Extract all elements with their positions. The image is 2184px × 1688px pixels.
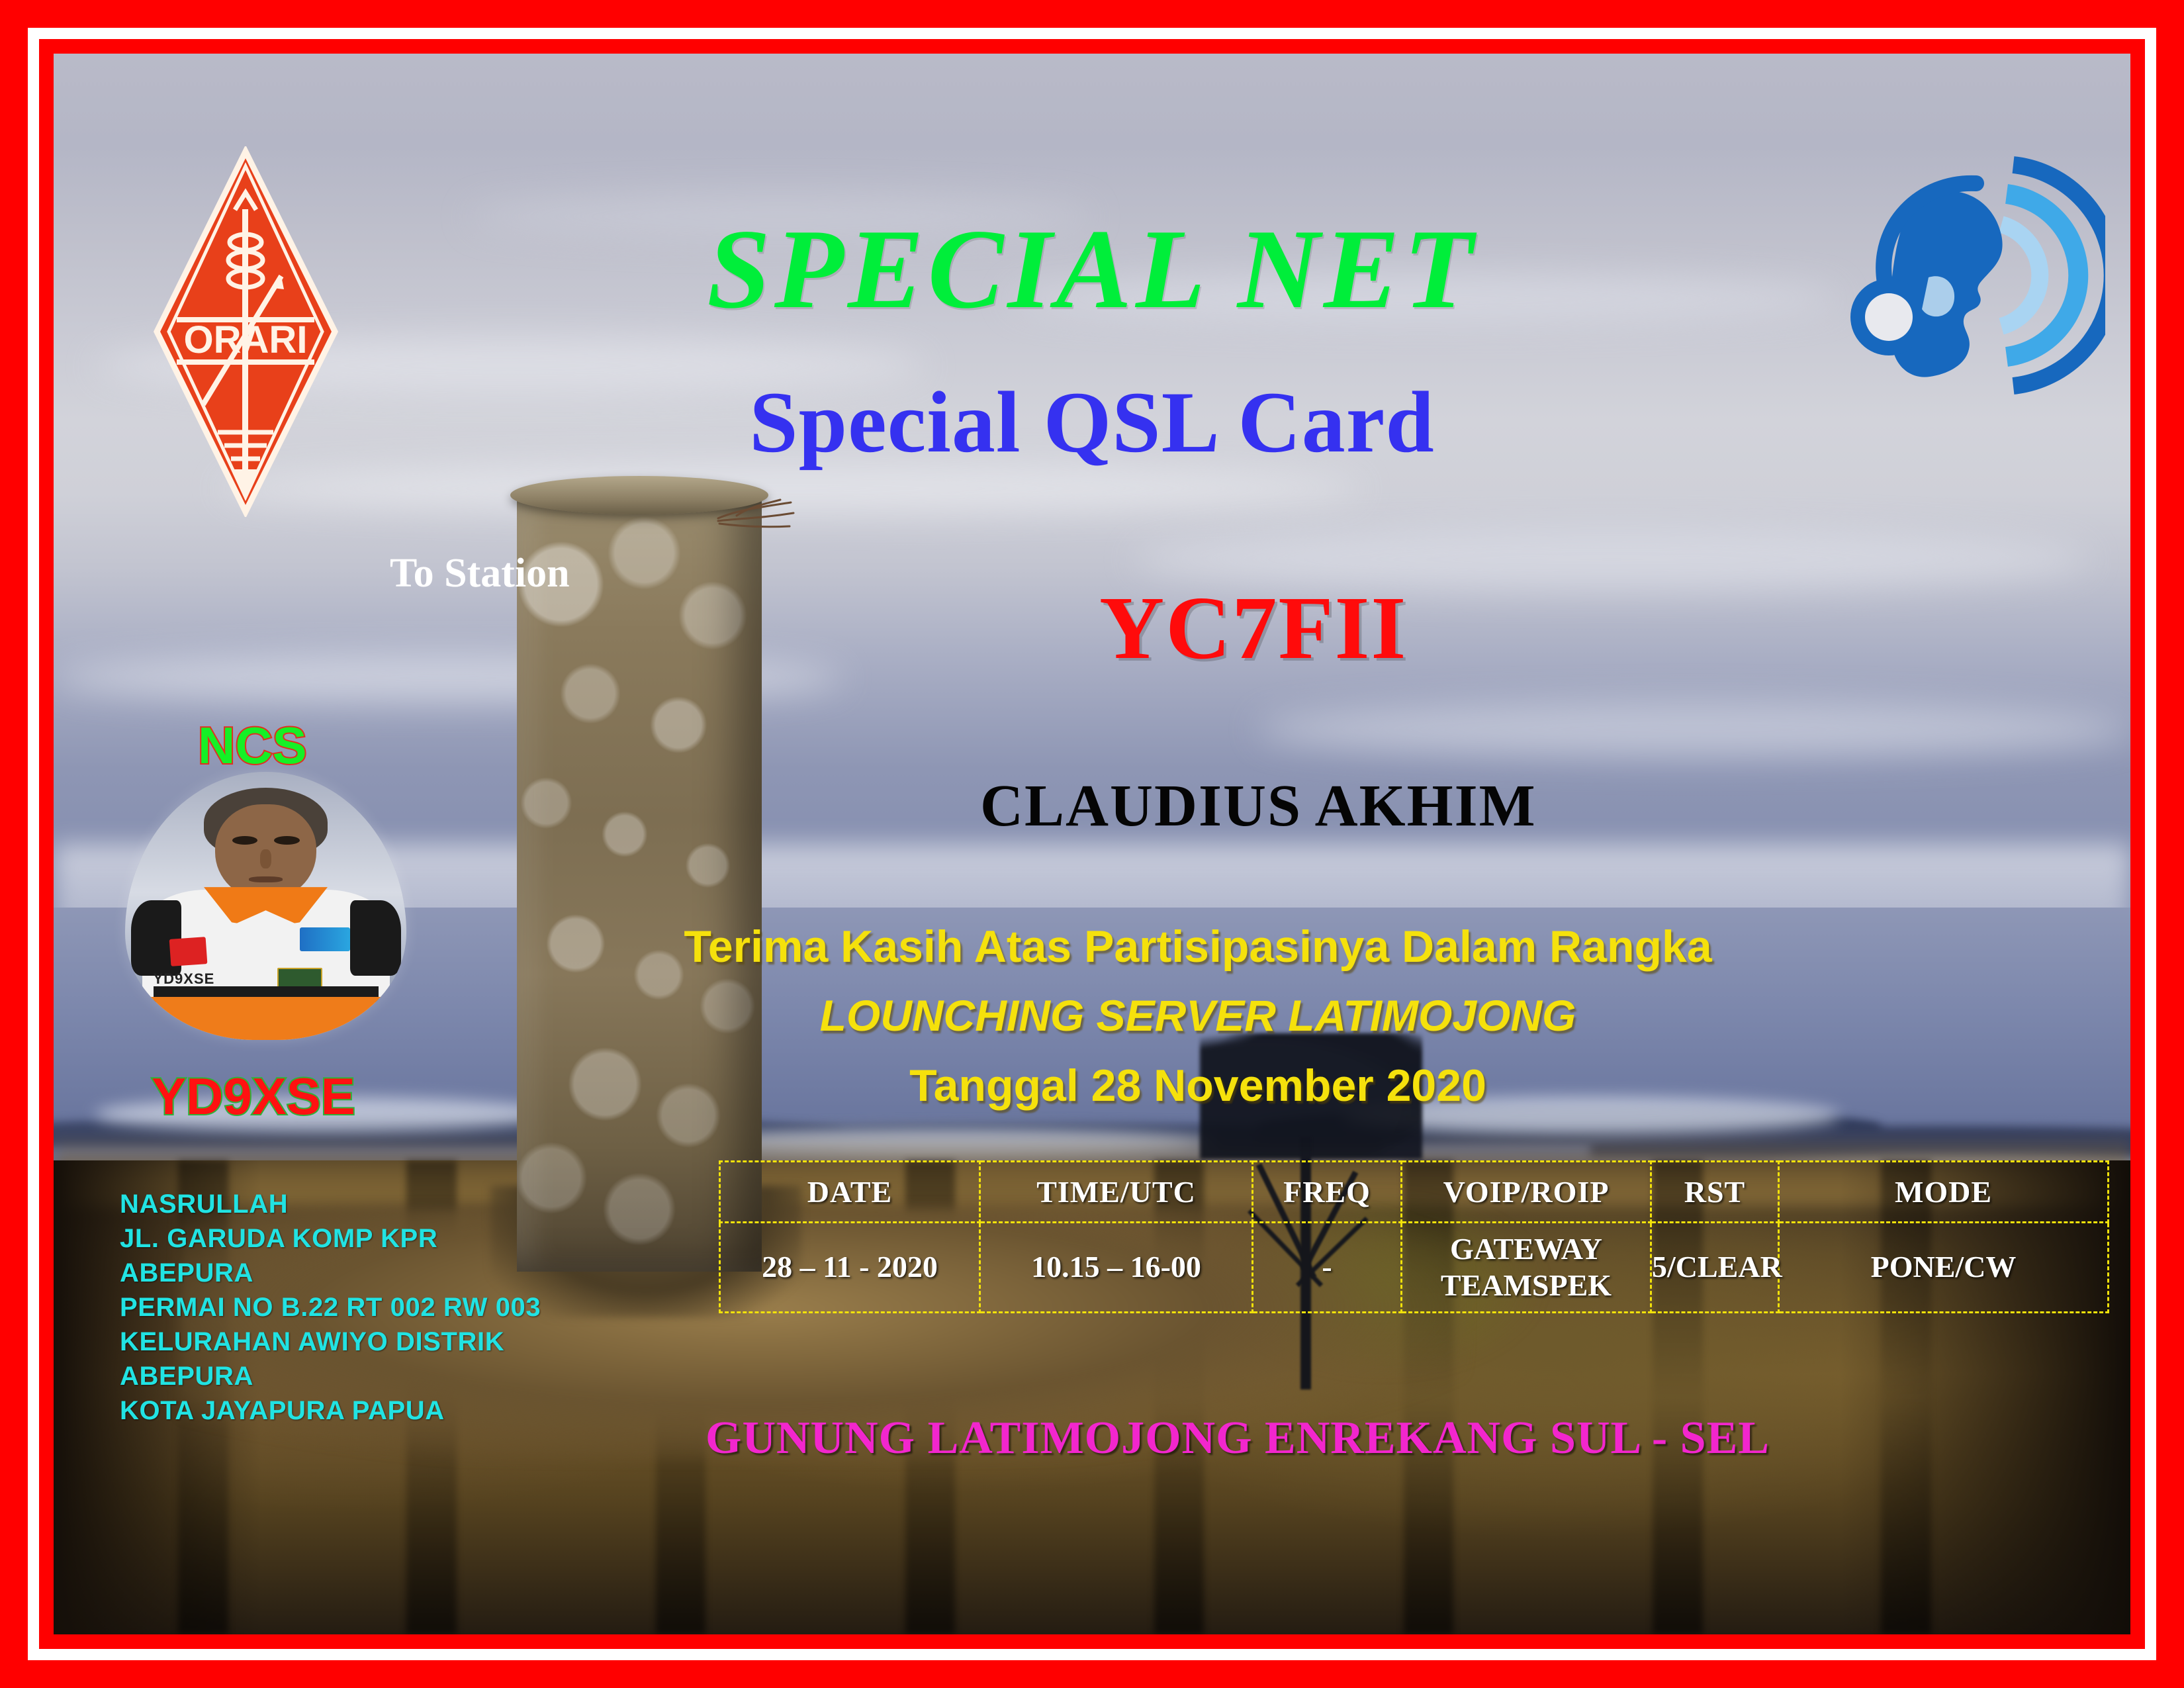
photo-shirt-callsign: YD9XSE bbox=[154, 970, 215, 988]
event-name: LOUNCHING SERVER LATIMOJONG bbox=[54, 990, 2130, 1041]
cell-voip-roip: GATEWAY TEAMSPEK bbox=[1402, 1223, 1651, 1313]
stone-cairn-monument bbox=[517, 491, 762, 1272]
cell-mode: PONE/CW bbox=[1779, 1223, 2109, 1313]
page-title: SPECIAL NET bbox=[54, 205, 2130, 335]
cairn-twigs-icon bbox=[717, 498, 796, 538]
cell-voip-roip-line1: GATEWAY bbox=[1402, 1231, 1650, 1267]
station-callsign: YC7FII bbox=[1099, 577, 1407, 680]
address-line: NASRULLAH bbox=[120, 1187, 541, 1221]
cell-time-utc: 10.15 – 16-00 bbox=[980, 1223, 1253, 1313]
photo-nose bbox=[260, 849, 271, 868]
column-header-mode: MODE bbox=[1779, 1162, 2109, 1223]
address-line: PERMAI NO B.22 RT 002 RW 003 bbox=[120, 1290, 541, 1325]
column-header-rst: RST bbox=[1651, 1162, 1779, 1223]
column-header-date: DATE bbox=[720, 1162, 980, 1223]
address-line: KOTA JAYAPURA PAPUA bbox=[120, 1393, 541, 1428]
operator-name: CLAUDIUS AKHIM bbox=[980, 772, 1537, 840]
photo-mouth bbox=[249, 876, 283, 882]
qsl-card-inner-frame: ORARI bbox=[39, 39, 2145, 1649]
ncs-label: NCS bbox=[198, 716, 307, 776]
qso-log-table: DATE TIME/UTC FREQ VOIP/ROIP RST MODE 28… bbox=[719, 1160, 2109, 1313]
address-line: ABEPURA bbox=[120, 1359, 541, 1393]
table-header-row: DATE TIME/UTC FREQ VOIP/ROIP RST MODE bbox=[720, 1162, 2109, 1223]
cairn-body bbox=[517, 491, 762, 1272]
thanks-message: Terima Kasih Atas Partisipasinya Dalam R… bbox=[54, 921, 2130, 972]
qsl-card-outer-frame: ORARI bbox=[0, 0, 2184, 1688]
cloud-band bbox=[1258, 702, 2130, 757]
qsl-card-photo-area: ORARI bbox=[54, 54, 2130, 1634]
qsl-card-white-gap: ORARI bbox=[28, 28, 2156, 1660]
cell-freq: - bbox=[1253, 1223, 1402, 1313]
event-date: Tanggal 28 November 2020 bbox=[54, 1060, 2130, 1111]
table-row: 28 – 11 - 2020 10.15 – 16-00 - GATEWAY T… bbox=[720, 1223, 2109, 1313]
address-line: KELURAHAN AWIYO DISTRIK bbox=[120, 1325, 541, 1359]
photo-eye-right bbox=[274, 836, 299, 845]
to-station-label: To Station bbox=[390, 550, 570, 597]
address-line: ABEPURA bbox=[120, 1256, 541, 1290]
column-header-freq: FREQ bbox=[1253, 1162, 1402, 1223]
column-header-time: TIME/UTC bbox=[980, 1162, 1253, 1223]
cell-voip-roip-line2: TEAMSPEK bbox=[1402, 1268, 1650, 1303]
column-header-voip-roip: VOIP/ROIP bbox=[1402, 1162, 1651, 1223]
location-caption: GUNUNG LATIMOJONG ENREKANG SUL - SEL bbox=[705, 1412, 1770, 1465]
page-subtitle: Special QSL Card bbox=[54, 371, 2130, 473]
ncs-address-block: NASRULLAH JL. GARUDA KOMP KPR ABEPURA PE… bbox=[120, 1187, 541, 1428]
address-line: JL. GARUDA KOMP KPR bbox=[120, 1221, 541, 1256]
photo-eye-left bbox=[232, 836, 257, 845]
cell-date: 28 – 11 - 2020 bbox=[720, 1223, 980, 1313]
cell-rst: 5/CLEAR bbox=[1651, 1223, 1779, 1313]
